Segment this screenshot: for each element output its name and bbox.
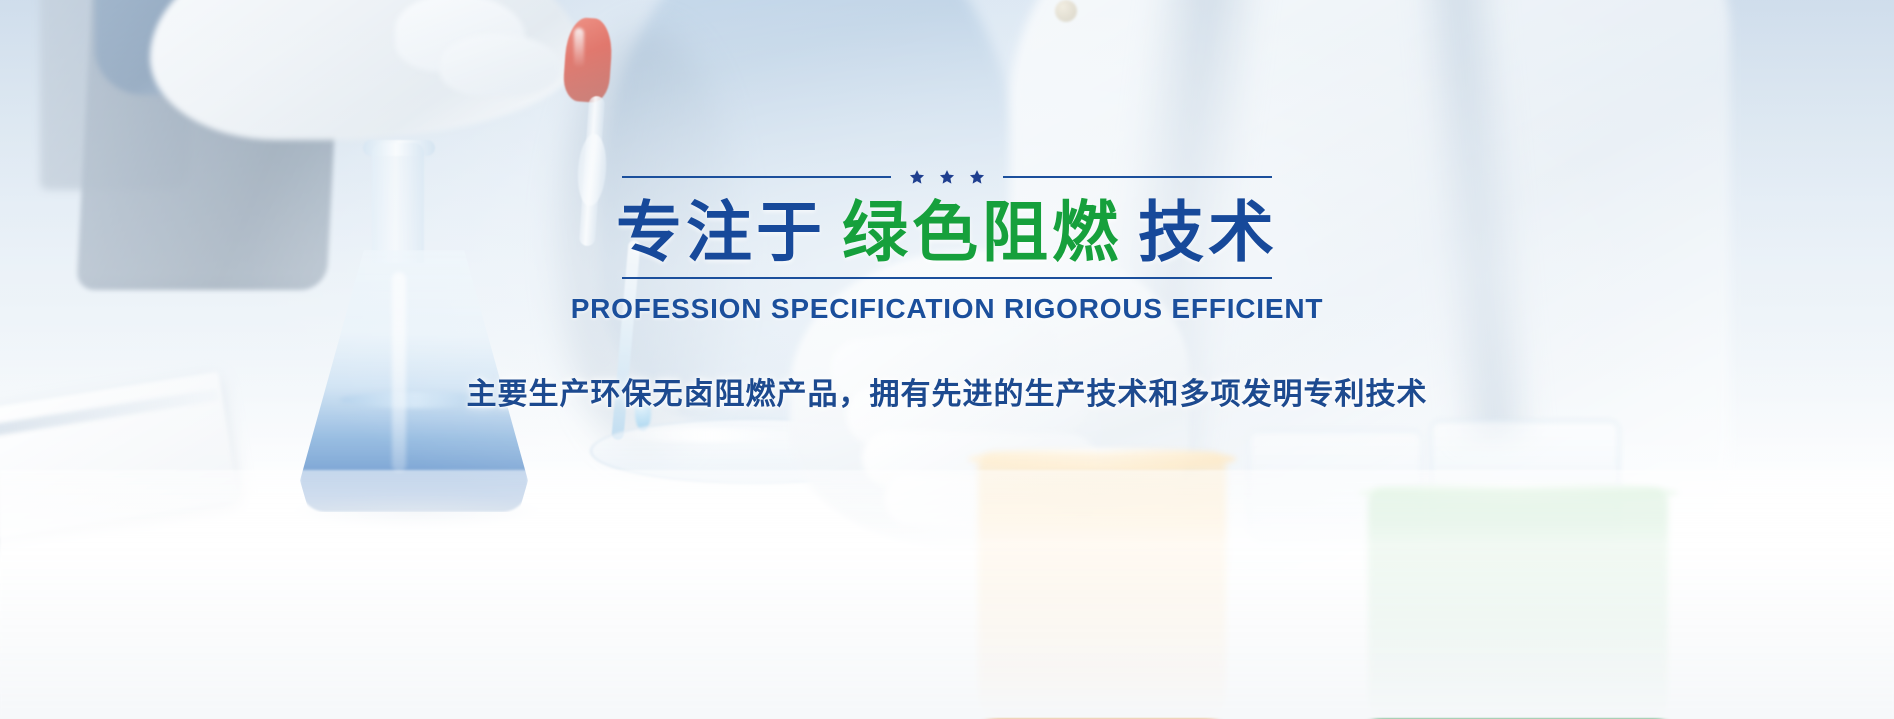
hero-banner: 专注于绿色阻燃技术 PROFESSION SPECIFICATION RIGOR… bbox=[0, 0, 1894, 719]
divider-line-right bbox=[1003, 176, 1272, 178]
star-icon bbox=[909, 169, 925, 185]
banner-tagline: 主要生产环保无卤阻燃产品，拥有先进的生产技术和多项发明专利技术 bbox=[467, 369, 1428, 413]
star-icon bbox=[969, 169, 985, 185]
headline-part-1: 专注于 bbox=[616, 194, 826, 271]
headline-part-2: 绿色阻燃 bbox=[842, 194, 1122, 271]
decorative-rule-row bbox=[622, 168, 1272, 186]
banner-subtitle: PROFESSION SPECIFICATION RIGOROUS EFFICI… bbox=[571, 293, 1324, 325]
star-icon bbox=[939, 169, 955, 185]
divider-line-left bbox=[622, 176, 891, 178]
banner-content: 专注于绿色阻燃技术 PROFESSION SPECIFICATION RIGOR… bbox=[0, 0, 1894, 719]
headline-part-3: 技术 bbox=[1138, 194, 1278, 271]
star-group bbox=[909, 169, 985, 185]
banner-headline: 专注于绿色阻燃技术 bbox=[616, 198, 1278, 267]
divider-line-under-headline bbox=[622, 277, 1272, 279]
